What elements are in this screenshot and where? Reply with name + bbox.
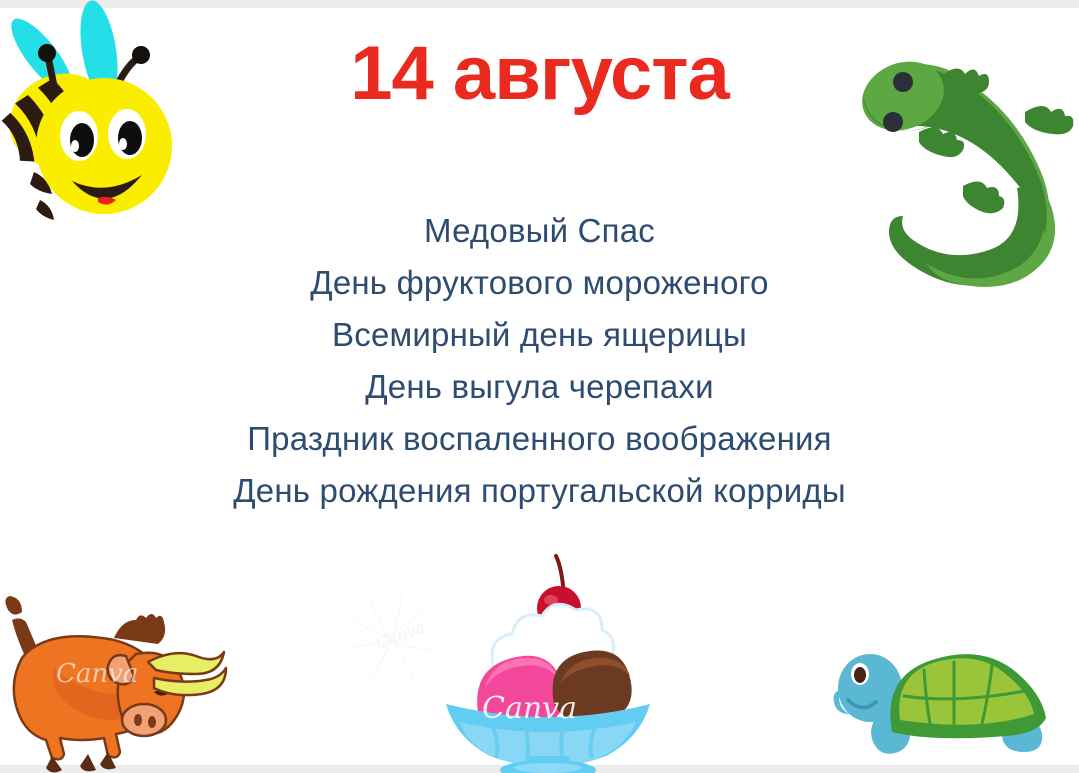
bull-watermark: Canva xyxy=(56,659,138,689)
holiday-line: Медовый Спас xyxy=(0,205,1079,257)
holiday-line: Праздник воспаленного воображения xyxy=(0,413,1079,465)
holiday-list: Медовый Спас День фруктового мороженого … xyxy=(0,205,1079,517)
holiday-line: День рождения португальской корриды xyxy=(0,465,1079,517)
ice-cream-illustration: Canva xyxy=(438,552,658,773)
holiday-line: День выгула черепахи xyxy=(0,361,1079,413)
page-title: 14 августа xyxy=(0,36,1079,112)
turtle-illustration xyxy=(826,634,1074,764)
bull-illustration: Canva xyxy=(0,596,226,773)
slide-canvas: 14 августа Медовый Спас День фруктового … xyxy=(0,0,1079,773)
holiday-line: Всемирный день ящерицы xyxy=(0,309,1079,361)
sundae-watermark: Canva xyxy=(482,691,577,726)
holiday-line: День фруктового мороженого xyxy=(0,257,1079,309)
